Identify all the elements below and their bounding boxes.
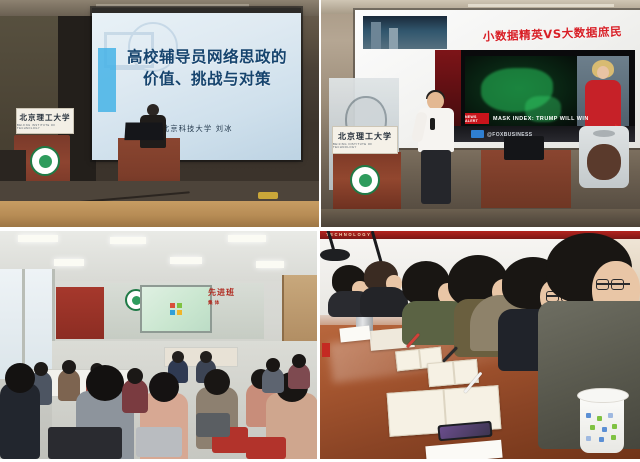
wall-slogan: 先进班 集体	[208, 287, 235, 306]
ceiling-light	[110, 237, 146, 244]
ceiling-light	[170, 257, 202, 264]
projection-screen	[140, 285, 212, 333]
laptop	[124, 122, 163, 140]
ceiling-light	[18, 235, 58, 242]
window	[0, 269, 55, 379]
wall-banner-text: TECHNOLOGY	[326, 232, 372, 237]
chair	[48, 427, 122, 459]
lecture-hall-scene: 小数据精英VS大数据庶民 NEWS ALERT MASK INDEX: TRUM…	[321, 0, 640, 227]
podium-sign-cn: 北京理工大学	[20, 112, 71, 123]
conference-table-scene: TECHNOLOGY	[320, 231, 640, 459]
classroom-scene: 先进班 集体	[0, 231, 317, 459]
slide-headline: 小数据精英VS大数据庶民	[465, 23, 640, 46]
paper-cup	[580, 393, 624, 453]
floor	[321, 209, 640, 227]
photo-panel-bottom-left: 先进班 集体	[0, 231, 317, 459]
screen-top-frame	[92, 8, 301, 13]
monitor	[504, 136, 544, 160]
slide-city-photo	[363, 16, 447, 49]
audience-person	[288, 363, 310, 389]
attendee	[360, 261, 406, 311]
university-emblem-icon	[350, 165, 380, 195]
auditorium-scene: 高校辅导员网络思政的 价值、挑战与对策 北京科技大学 刘冰 北京理工大学 BEI…	[0, 0, 319, 227]
photo-collage: 高校辅导员网络思政的 价值、挑战与对策 北京科技大学 刘冰 北京理工大学 BEI…	[0, 0, 640, 462]
speaker-figure	[416, 92, 456, 204]
cup-pattern	[586, 413, 618, 443]
ceiling-light	[54, 259, 84, 266]
chair	[246, 437, 286, 459]
slide-subtitle: 北京科技大学 刘冰	[162, 124, 297, 134]
podium-sign-en: BEIJING INSTITUTE OF TECHNOLOGY	[17, 124, 73, 130]
photo-panel-top-left: 高校辅导员网络思政的 价值、挑战与对策 北京科技大学 刘冰 北京理工大学 BEI…	[0, 0, 319, 227]
ceiling-light	[228, 235, 266, 242]
windows-logo-icon	[170, 303, 183, 315]
podium-sign: 北京理工大学 BEIJING INSTITUTE OF TECHNOLOGY	[332, 126, 398, 154]
photo-panel-top-right: 小数据精英VS大数据庶民 NEWS ALERT MASK INDEX: TRUM…	[321, 0, 640, 227]
slide-accent-bar	[98, 48, 116, 112]
audience-person	[122, 379, 148, 413]
photo-panel-bottom-right: TECHNOLOGY	[320, 231, 640, 459]
university-emblem-icon	[30, 146, 60, 176]
slide-title: 高校辅导员网络思政的 价值、挑战与对策	[116, 46, 298, 90]
wall-slogan-sub: 集体	[208, 300, 235, 306]
cup-lid	[577, 388, 629, 403]
wall-red-panel	[56, 287, 104, 339]
floor-object	[258, 192, 278, 199]
podium-sign-cn: 北京理工大学	[338, 131, 392, 142]
handheld-microphone-icon	[430, 118, 435, 130]
podium-sign: 北京理工大学 BEIJING INSTITUTE OF TECHNOLOGY	[16, 108, 74, 134]
podium-sign-en: BEIJING INSTITUTE OF TECHNOLOGY	[333, 143, 397, 149]
cylindrical-device	[579, 126, 629, 188]
news-alert-badge: NEWS ALERT	[465, 113, 489, 124]
slide-title-line1: 高校辅导员网络思政的	[116, 46, 298, 68]
stage-front-edge	[0, 201, 319, 227]
audience-person	[262, 367, 284, 393]
social-icon	[471, 130, 484, 138]
audience-person	[0, 383, 40, 459]
slide-title-line2: 价值、挑战与对策	[116, 68, 298, 90]
wall-slogan-main: 先进班	[208, 288, 235, 297]
news-chyron: MASK INDEX: TRUMP WILL WIN	[493, 116, 589, 122]
glasses-icon	[596, 283, 630, 285]
chair	[136, 427, 182, 457]
ceiling-light	[256, 261, 284, 268]
chair	[196, 413, 230, 437]
desk-flag	[322, 343, 330, 357]
